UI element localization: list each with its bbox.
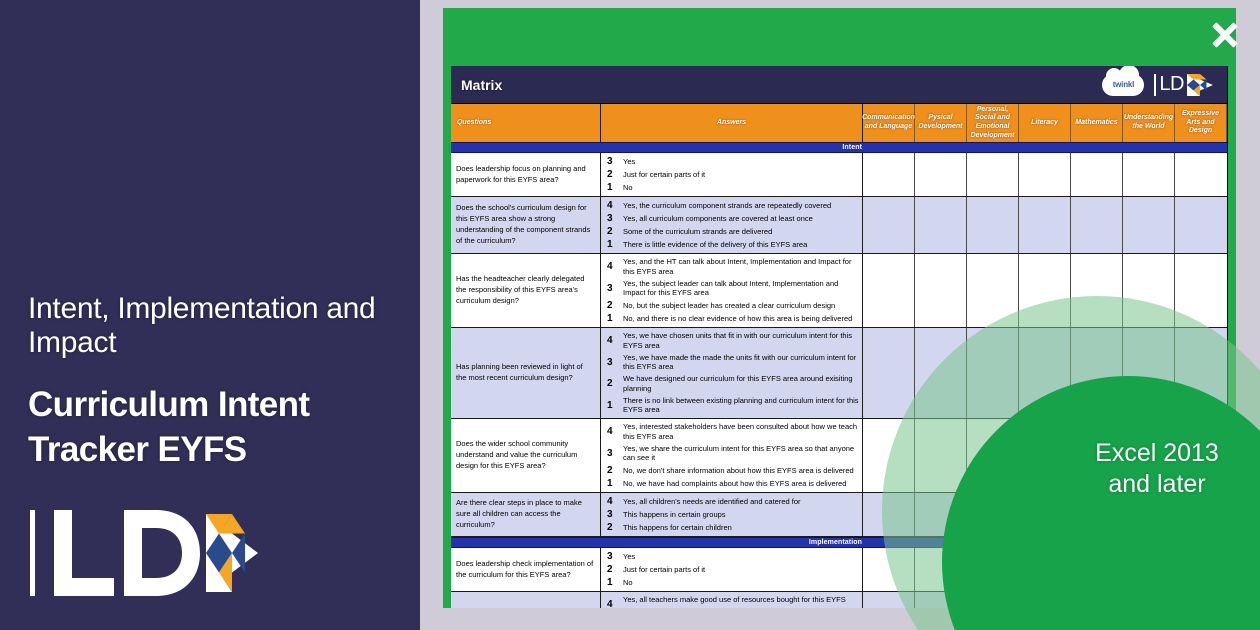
- table-row[interactable]: Has the headteacher clearly delegated th…: [451, 254, 1227, 328]
- answer-text: Yes, the subject leader can talk about I…: [623, 279, 862, 299]
- answer-score: 4: [607, 496, 623, 507]
- answer-option: 3Yes: [601, 155, 862, 168]
- answer-score: 1: [607, 577, 623, 588]
- header-subject[interactable]: Personal, Social and Emotional Developme…: [967, 104, 1019, 142]
- score-cell[interactable]: [967, 197, 1019, 253]
- table-row[interactable]: Does the school's curriculum design for …: [451, 197, 1227, 254]
- answer-text: Yes, interested stakeholders have been c…: [623, 422, 862, 442]
- answer-score: 2: [607, 522, 623, 533]
- answer-text: Yes, we have chosen units that fit in wi…: [623, 331, 862, 351]
- answer-score: 1: [607, 400, 623, 411]
- answer-text: Yes, the curriculum component strands ar…: [623, 201, 831, 211]
- header-subject[interactable]: Understanding the World: [1123, 104, 1175, 142]
- answer-score: 3: [607, 156, 623, 167]
- answers-cell[interactable]: 4Yes, all children's needs are identifie…: [601, 493, 863, 536]
- screenshot-root: Matrix twinkl LD: [0, 0, 1260, 630]
- answer-text: Yes, we share the curriculum intent for …: [623, 444, 862, 464]
- answer-option: 3Yes, we share the curriculum intent for…: [601, 443, 862, 465]
- question-cell[interactable]: Does the wider school community understa…: [451, 419, 601, 492]
- score-cell[interactable]: [1175, 254, 1227, 327]
- score-cell[interactable]: [1123, 153, 1175, 196]
- answer-score: 1: [607, 313, 623, 324]
- answer-score: 4: [607, 599, 623, 608]
- ld-play-triangle-icon: [1187, 74, 1213, 96]
- version-badge-label: Excel 2013 and later: [1095, 438, 1219, 499]
- answer-score: 1: [607, 182, 623, 193]
- answer-score: 3: [607, 283, 623, 294]
- answer-score: 1: [607, 239, 623, 250]
- score-cell[interactable]: [1071, 254, 1123, 327]
- answer-text: No, we have had complaints about how thi…: [623, 479, 846, 489]
- answer-option: 4Yes, the curriculum component strands a…: [601, 199, 862, 212]
- question-cell[interactable]: Has planning been reviewed in light of t…: [451, 328, 601, 418]
- answer-score: 2: [607, 378, 623, 389]
- answer-text: There is no link between existing planni…: [623, 396, 862, 416]
- sheet-title-bar: Matrix twinkl LD: [451, 66, 1227, 104]
- score-cell[interactable]: [967, 254, 1019, 327]
- header-subject[interactable]: Pysical Development: [915, 104, 967, 142]
- score-cell[interactable]: [1019, 254, 1071, 327]
- answer-option: 2Some of the curriculum strands are deli…: [601, 225, 862, 238]
- answers-cell[interactable]: 4Yes, interested stakeholders have been …: [601, 419, 863, 492]
- score-cell[interactable]: [863, 153, 915, 196]
- answers-cell[interactable]: 4Yes, all teachers make good use of reso…: [601, 592, 863, 608]
- answer-text: This happens in certain groups: [623, 510, 726, 520]
- score-cell[interactable]: [915, 254, 967, 327]
- question-cell[interactable]: Are resources used consistently througho…: [451, 592, 601, 608]
- score-cell[interactable]: [1071, 153, 1123, 196]
- score-cell[interactable]: [1175, 197, 1227, 253]
- sheet-branding: twinkl LD: [861, 73, 1227, 96]
- answer-text: Yes: [623, 552, 635, 562]
- answer-option: 3Yes, all curriculum components are cove…: [601, 212, 862, 225]
- answers-cell[interactable]: 4Yes, the curriculum component strands a…: [601, 197, 863, 253]
- header-questions[interactable]: Questions: [451, 104, 601, 142]
- answers-cell[interactable]: 4Yes, and the HT can talk about Intent, …: [601, 254, 863, 327]
- answer-score: 4: [607, 335, 623, 346]
- answer-option: 3Yes, the subject leader can talk about …: [601, 278, 862, 300]
- score-cell[interactable]: [1019, 197, 1071, 253]
- answer-score: 4: [607, 426, 623, 437]
- header-subject[interactable]: Mathematics: [1071, 104, 1123, 142]
- twinkl-cloud-icon: twinkl: [1102, 74, 1144, 96]
- answer-option: 1No, and there is no clear evidence of h…: [601, 312, 862, 325]
- answer-option: 4Yes, and the HT can talk about Intent, …: [601, 256, 862, 278]
- answer-score: 2: [607, 226, 623, 237]
- answer-text: No, but the subject leader has created a…: [623, 301, 835, 311]
- score-cell[interactable]: [1019, 153, 1071, 196]
- answer-option: 4Yes, interested stakeholders have been …: [601, 421, 862, 443]
- ld-label: LD: [1159, 73, 1184, 96]
- answer-option: 2Just for certain parts of it: [601, 168, 862, 181]
- answer-text: No: [623, 578, 633, 588]
- answer-score: 3: [607, 448, 623, 459]
- page-title: Curriculum Intent Tracker EYFS: [28, 383, 408, 473]
- answer-text: No, we don't share information about how…: [623, 466, 854, 476]
- score-cell[interactable]: [915, 328, 967, 418]
- score-cell[interactable]: [863, 592, 915, 608]
- ld-logo: [28, 508, 258, 603]
- answer-score: 2: [607, 465, 623, 476]
- answer-text: Yes, all children's needs are identified…: [623, 497, 801, 507]
- answer-text: Just for certain parts of it: [623, 170, 705, 180]
- answer-option: 4Yes, all children's needs are identifie…: [601, 495, 862, 508]
- question-cell[interactable]: Has the headteacher clearly delegated th…: [451, 254, 601, 327]
- answer-text: Yes, all teachers make good use of resou…: [623, 595, 862, 608]
- answer-option: 1There is no link between existing plann…: [601, 395, 862, 417]
- question-cell[interactable]: Does leadership focus on planning and pa…: [451, 153, 601, 196]
- close-icon[interactable]: [1208, 18, 1242, 52]
- header-answers[interactable]: Answers: [601, 104, 863, 142]
- answer-score: 1: [607, 478, 623, 489]
- answer-score: 3: [607, 509, 623, 520]
- answer-text: Just for certain parts of it: [623, 565, 705, 575]
- score-cell[interactable]: [1071, 197, 1123, 253]
- answer-score: 4: [607, 261, 623, 272]
- answer-text: Yes: [623, 157, 635, 167]
- score-cell[interactable]: [863, 328, 915, 418]
- answer-score: 4: [607, 200, 623, 211]
- answer-option: 2This happens for certain children: [601, 521, 862, 534]
- answers-cell[interactable]: 3Yes2Just for certain parts of it1No: [601, 153, 863, 196]
- answer-text: We have designed our curriculum for this…: [623, 374, 862, 394]
- column-header-row: Questions Answers Communication and Lang…: [451, 104, 1227, 142]
- answer-text: There is little evidence of the delivery…: [623, 240, 807, 250]
- section-band-intent: Intent: [451, 142, 1227, 153]
- answer-text: Some of the curriculum strands are deliv…: [623, 227, 772, 237]
- answer-text: This happens for certain children: [623, 523, 732, 533]
- answer-option: 1There is little evidence of the deliver…: [601, 238, 862, 251]
- answer-option: 4Yes, all teachers make good use of reso…: [601, 594, 862, 608]
- score-cell[interactable]: [1123, 254, 1175, 327]
- sheet-title: Matrix: [451, 77, 861, 93]
- answer-option: 1No, we have had complaints about how th…: [601, 477, 862, 490]
- answer-text: No: [623, 183, 633, 193]
- score-cell[interactable]: [967, 153, 1019, 196]
- table-row[interactable]: Does leadership focus on planning and pa…: [451, 153, 1227, 197]
- section-band-label: Intent: [451, 144, 865, 151]
- header-subject[interactable]: Literacy: [1019, 104, 1071, 142]
- answer-option: 2No, but the subject leader has created …: [601, 299, 862, 312]
- title-block: Intent, Implementation and Impact Curric…: [28, 292, 408, 473]
- answer-text: Yes, we have made the made the units fit…: [623, 353, 862, 373]
- answer-text: Yes, all curriculum components are cover…: [623, 214, 813, 224]
- score-cell[interactable]: [915, 197, 967, 253]
- twinkl-label: twinkl: [1113, 80, 1134, 89]
- score-cell[interactable]: [863, 254, 915, 327]
- score-cell[interactable]: [863, 493, 915, 536]
- section-band-label: Implementation: [451, 539, 865, 546]
- answer-score: 3: [607, 551, 623, 562]
- header-subject[interactable]: Expressive Arts and Design: [1175, 104, 1227, 142]
- answers-cell[interactable]: 4Yes, we have chosen units that fit in w…: [601, 328, 863, 418]
- question-cell[interactable]: Does leadership check implementation of …: [451, 548, 601, 591]
- score-cell[interactable]: [967, 328, 1019, 418]
- answer-score: 3: [607, 357, 623, 368]
- answers-cell[interactable]: 3Yes2Just for certain parts of it1No: [601, 548, 863, 591]
- answer-option: 3Yes: [601, 550, 862, 563]
- answer-score: 2: [607, 564, 623, 575]
- question-cell[interactable]: Does the school's curriculum design for …: [451, 197, 601, 253]
- score-cell[interactable]: [1175, 153, 1227, 196]
- answer-text: No, and there is no clear evidence of ho…: [623, 314, 852, 324]
- answer-option: 3Yes, we have made the made the units fi…: [601, 352, 862, 374]
- left-title-panel: Intent, Implementation and Impact Curric…: [0, 0, 420, 630]
- answer-score: 2: [607, 300, 623, 311]
- ld-logo-icon: [28, 508, 258, 598]
- answer-option: 2Just for certain parts of it: [601, 563, 862, 576]
- score-cell[interactable]: [863, 419, 915, 492]
- score-cell[interactable]: [915, 153, 967, 196]
- answer-option: 2No, we don't share information about ho…: [601, 464, 862, 477]
- score-cell[interactable]: [863, 548, 915, 591]
- header-subject[interactable]: Communication and Language: [863, 104, 915, 142]
- answer-option: 2We have designed our curriculum for thi…: [601, 373, 862, 395]
- ld-logo-small: LD: [1154, 73, 1213, 96]
- answer-option: 1No: [601, 181, 862, 194]
- score-cell[interactable]: [863, 197, 915, 253]
- answer-option: 4Yes, we have chosen units that fit in w…: [601, 330, 862, 352]
- score-cell[interactable]: [1123, 197, 1175, 253]
- answer-text: Yes, and the HT can talk about Intent, I…: [623, 257, 862, 277]
- answer-option: 3This happens in certain groups: [601, 508, 862, 521]
- answer-option: 1No: [601, 576, 862, 589]
- answer-score: 3: [607, 213, 623, 224]
- page-subtitle: Intent, Implementation and Impact: [28, 292, 408, 359]
- answer-score: 2: [607, 169, 623, 180]
- ld-bar-icon: [1154, 74, 1156, 96]
- question-cell[interactable]: Are there clear steps in place to make s…: [451, 493, 601, 536]
